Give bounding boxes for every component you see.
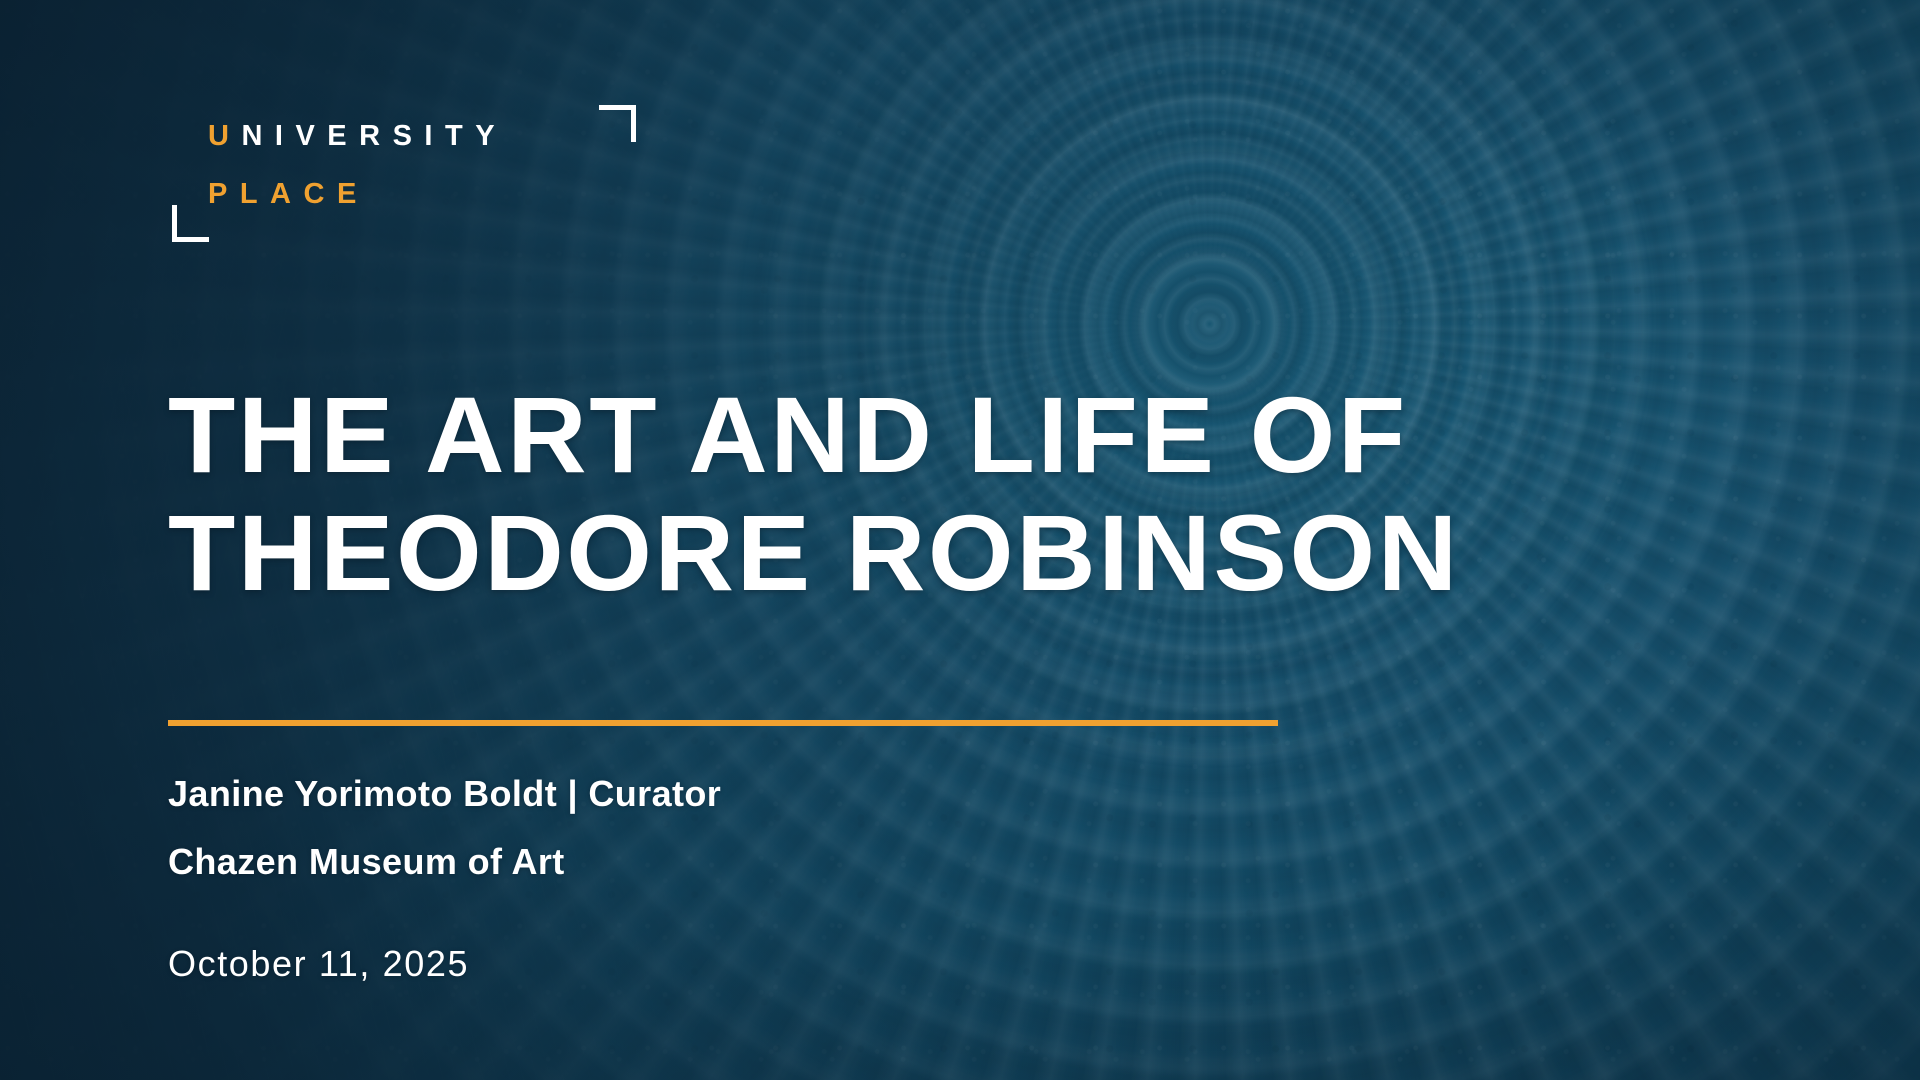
accent-divider-rule xyxy=(168,720,1278,726)
title-line-2: THEODORE ROBINSON xyxy=(168,494,1698,612)
credits-block: Janine Yorimoto Boldt | Curator Chazen M… xyxy=(168,760,1268,998)
logo-line-university: UNIVERSITY xyxy=(208,122,507,151)
university-place-logo: UNIVERSITY PLACE xyxy=(170,92,620,267)
logo-initial-u: U xyxy=(208,120,241,152)
corner-bracket-bottom-left-icon xyxy=(172,205,209,242)
title-line-1: THE ART AND LIFE OF xyxy=(168,376,1698,494)
date-line: October 11, 2025 xyxy=(168,930,1268,998)
title-slide: UNIVERSITY PLACE THE ART AND LIFE OF THE… xyxy=(0,0,1920,1080)
logo-word-niversity: NIVERSITY xyxy=(241,120,507,152)
presenter-line: Janine Yorimoto Boldt | Curator xyxy=(168,760,1268,828)
affiliation-line: Chazen Museum of Art xyxy=(168,828,1268,896)
page-title: THE ART AND LIFE OF THEODORE ROBINSON xyxy=(168,376,1668,612)
corner-bracket-top-right-icon xyxy=(599,105,636,142)
logo-line-place: PLACE xyxy=(208,180,369,209)
